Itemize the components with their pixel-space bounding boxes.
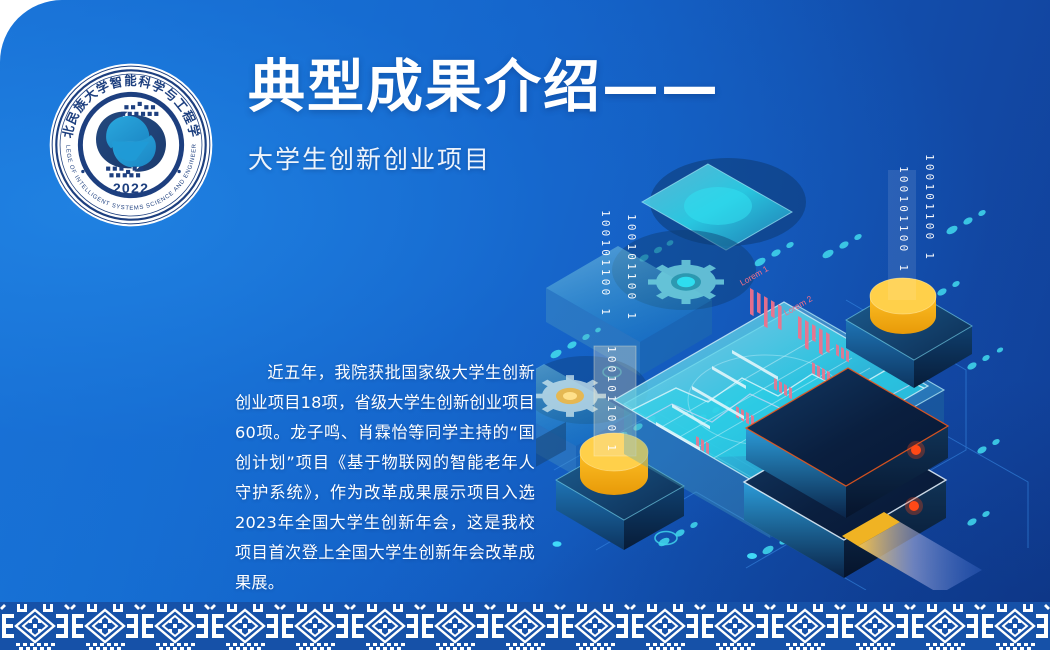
binary-label-1: 100101100 1 xyxy=(599,210,612,318)
tech-illustration: 100101100 1 100101100 1 xyxy=(536,150,1050,590)
university-logo: 湖北民族大学智能科学与工程学院 COLLEGE OF INTELLIGENT S… xyxy=(48,62,214,228)
svg-text:100101100 1: 100101100 1 xyxy=(897,166,910,274)
binary-label-2: 100101100 1 xyxy=(625,214,638,322)
ethnic-border-pattern xyxy=(0,602,1050,650)
page-subtitle: 大学生创新创业项目 xyxy=(248,140,720,176)
page-title: 典型成果介绍—— xyxy=(248,58,720,118)
svg-text:100101100 1: 100101100 1 xyxy=(625,214,638,322)
poster-root: 湖北民族大学智能科学与工程学院 COLLEGE OF INTELLIGENT S… xyxy=(0,0,1050,650)
header-block: 典型成果介绍—— 大学生创新创业项目 xyxy=(248,58,720,176)
body-paragraph: 近五年，我院获批国家级大学生创新创业项目18项，省级大学生创新创业项目60项。龙… xyxy=(235,358,535,598)
svg-text:100101100 1: 100101100 1 xyxy=(923,154,936,262)
isometric-scene-icon: 100101100 1 100101100 1 xyxy=(536,150,1050,590)
logo-icon: 湖北民族大学智能科学与工程学院 COLLEGE OF INTELLIGENT S… xyxy=(48,62,214,228)
gear-icon xyxy=(648,260,724,304)
svg-text:100101100 1: 100101100 1 xyxy=(599,210,612,318)
binary-label-5: 100101100 1 xyxy=(923,154,936,262)
binary-label-4: 100101100 1 xyxy=(897,166,910,274)
logo-year: 2022 xyxy=(113,180,149,196)
brocade-pattern-icon xyxy=(0,602,1050,650)
